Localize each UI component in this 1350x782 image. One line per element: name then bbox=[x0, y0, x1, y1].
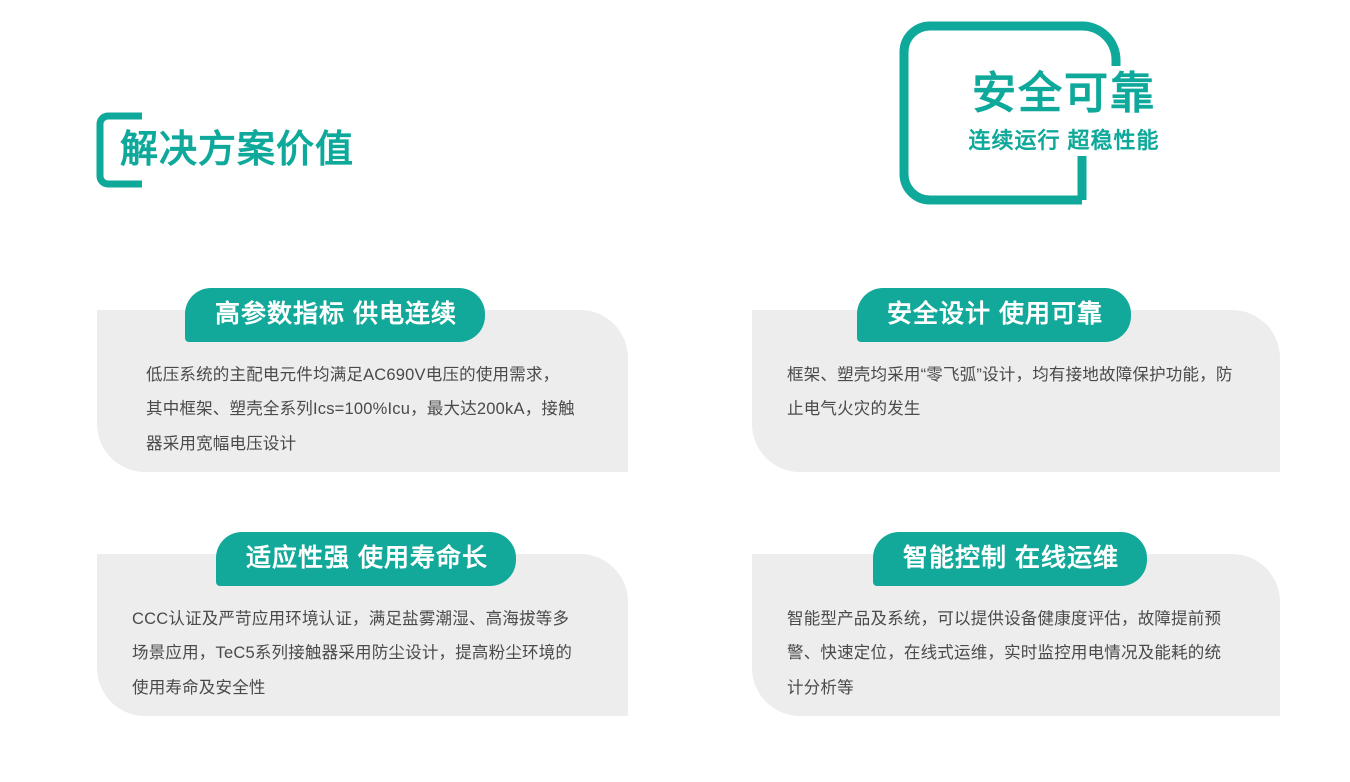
feature-card-body: 框架、塑壳均采用“零飞弧”设计，均有接地故障保护功能，防止电气火灾的发生 bbox=[787, 358, 1237, 427]
feature-card: 安全设计 使用可靠 框架、塑壳均采用“零飞弧”设计，均有接地故障保护功能，防止电… bbox=[752, 310, 1280, 472]
feature-card: 智能控制 在线运维 智能型产品及系统，可以提供设备健康度评估，故障提前预警、快速… bbox=[752, 554, 1280, 716]
feature-card-title: 适应性强 使用寿命长 bbox=[216, 532, 516, 586]
feature-card-body: CCC认证及严苛应用环境认证，满足盐雾潮湿、高海拔等多场景应用，TeC5系列接触… bbox=[132, 602, 582, 705]
feature-card-title: 智能控制 在线运维 bbox=[873, 532, 1147, 586]
feature-card-title: 高参数指标 供电连续 bbox=[185, 288, 485, 342]
feature-card-body: 智能型产品及系统，可以提供设备健康度评估，故障提前预警、快速定位，在线式运维，实… bbox=[787, 602, 1237, 705]
feature-card-body-text: 智能型产品及系统，可以提供设备健康度评估，故障提前预警、快速定位，在线式运维，实… bbox=[787, 602, 1237, 705]
slide-canvas: 解决方案价值 安全可靠 连续运行 超稳性能 高参数指标 供电连续 低压系统的主配… bbox=[0, 0, 1350, 782]
feature-card: 适应性强 使用寿命长 CCC认证及严苛应用环境认证，满足盐雾潮湿、高海拔等多场景… bbox=[97, 554, 628, 716]
feature-card-body-text: 框架、塑壳均采用“零飞弧”设计，均有接地故障保护功能，防止电气火灾的发生 bbox=[787, 358, 1237, 427]
feature-card-body-text: 低压系统的主配电元件均满足AC690V电压的使用需求，其中框架、塑壳全系列Ics… bbox=[146, 358, 576, 461]
feature-card-grid: 高参数指标 供电连续 低压系统的主配电元件均满足AC690V电压的使用需求，其中… bbox=[0, 0, 1350, 782]
feature-card-title: 安全设计 使用可靠 bbox=[857, 288, 1131, 342]
feature-card-body-text: CCC认证及严苛应用环境认证，满足盐雾潮湿、高海拔等多场景应用，TeC5系列接触… bbox=[132, 602, 582, 705]
page-title-text: 解决方案价值 bbox=[120, 131, 354, 169]
feature-card: 高参数指标 供电连续 低压系统的主配电元件均满足AC690V电压的使用需求，其中… bbox=[97, 310, 628, 472]
feature-card-body: 低压系统的主配电元件均满足AC690V电压的使用需求，其中框架、塑壳全系列Ics… bbox=[146, 358, 576, 461]
